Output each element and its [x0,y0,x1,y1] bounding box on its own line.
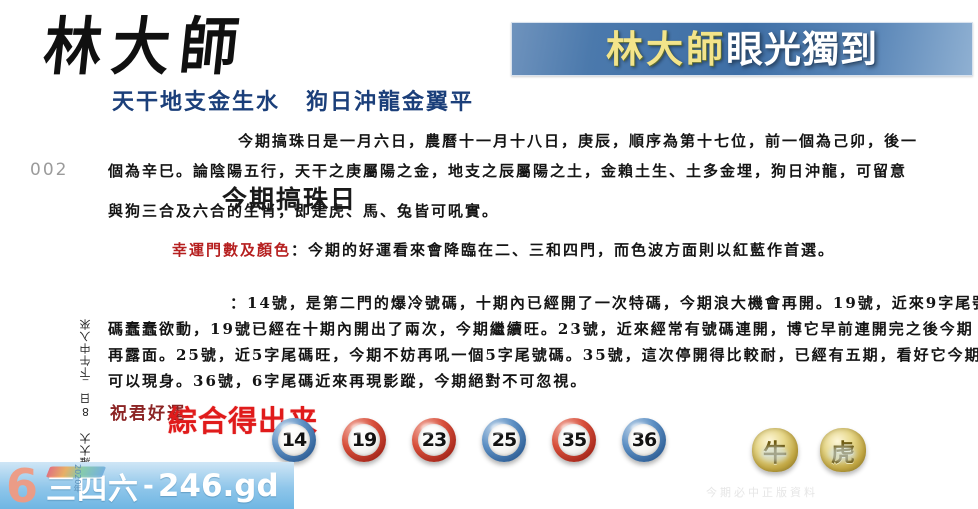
paragraph1-line2: 個為辛巳。論陰陽五行，天干之庚屬陽之金，地支之辰屬陽之土，金賴土生、土多金埋，狗… [108,160,907,181]
ball-gloss [561,423,579,434]
lottery-ball[interactable]: 25 [482,418,526,462]
watermark-vertical-date: 2020年 [72,464,83,492]
banner-highlight-text: 林大師 [606,31,726,68]
page-number: 002 [30,160,68,180]
page-canvas: 林大師 天干地支金生水狗日沖龍金翼平 林大師眼光獨到 002 今期搞珠日是一月六… [0,0,978,509]
lottery-ball[interactable]: 36 [622,418,666,462]
ball-gloss [491,423,509,434]
subtitle-right: 狗日沖龍金翼平 [306,90,474,115]
lottery-ball-row: 14 19 23 25 35 36 [272,418,666,462]
lucky-gates-line: 幸運門數及顏色：今期的好運看來會降臨在二、三和四門，而色波方面則以紅藍作首選。 [172,239,835,260]
lottery-ball[interactable]: 35 [552,418,596,462]
zodiac-coin-ox[interactable]: 牛 [752,428,798,472]
paragraph2-line3: 再露面。25號，近5字尾碼旺，今期不妨再吼一個5字尾號碼。35號，這次停開得比較… [108,344,978,365]
ball-gloss [631,423,649,434]
ball-gloss [421,423,439,434]
paragraph2-line4: 可以現身。36號，6字尾碼近來再現影蹤，今期絕對不可忽視。 [108,370,587,391]
coin-gloss [760,446,788,462]
lottery-ball[interactable]: 14 [272,418,316,462]
watermark-dash: - [143,471,154,501]
banner-rest-text: 眼光獨到 [726,31,878,68]
subtitle-left: 天干地支金生水 [112,90,280,115]
paragraph2-line2: 碼蠢蠢欲動，19號已經在十期內開出了兩次，今期繼續旺。23號，近來經常有號碼連開… [108,318,974,339]
lucky-gates-text: ：今期的好運看來會降臨在二、三和四門，而色波方面則以紅藍作首選。 [291,241,835,259]
ball-gloss [281,423,299,434]
ball-gloss [351,423,369,434]
draw-date-watermark: 今期搞珠日 [222,180,357,216]
watermark-six-logo: 6 [6,463,38,509]
masthead-logo: 林大師 [41,16,252,79]
headline-banner: 林大師眼光獨到 [511,22,973,76]
paragraph1-line1: 今期搞珠日是一月六日，農曆十一月十八日，庚辰，順序為第十七位，前一個為己卯，後一 [238,130,918,151]
page-subtitle: 天干地支金生水狗日沖龍金翼平 [112,84,474,116]
zodiac-coin-row: 牛 虎 [752,428,866,472]
lottery-ball[interactable]: 23 [412,418,456,462]
lucky-gates-label: 幸運門數及顏色 [172,241,291,259]
site-watermark: 2020年 6 三四六 - 246.gd [0,462,294,509]
paragraph2-line1: ：14號，是第二門的爆冷號碼，十期內已經開了一次特碼，今期浪大機會再開。19號，… [230,292,978,313]
lottery-ball[interactable]: 19 [342,418,386,462]
coin-gloss [828,446,856,462]
zodiac-coin-tiger[interactable]: 虎 [820,428,866,472]
watermark-domain: 246.gd [158,468,279,504]
faint-background-text: 今期必中正版資料 [706,484,818,500]
